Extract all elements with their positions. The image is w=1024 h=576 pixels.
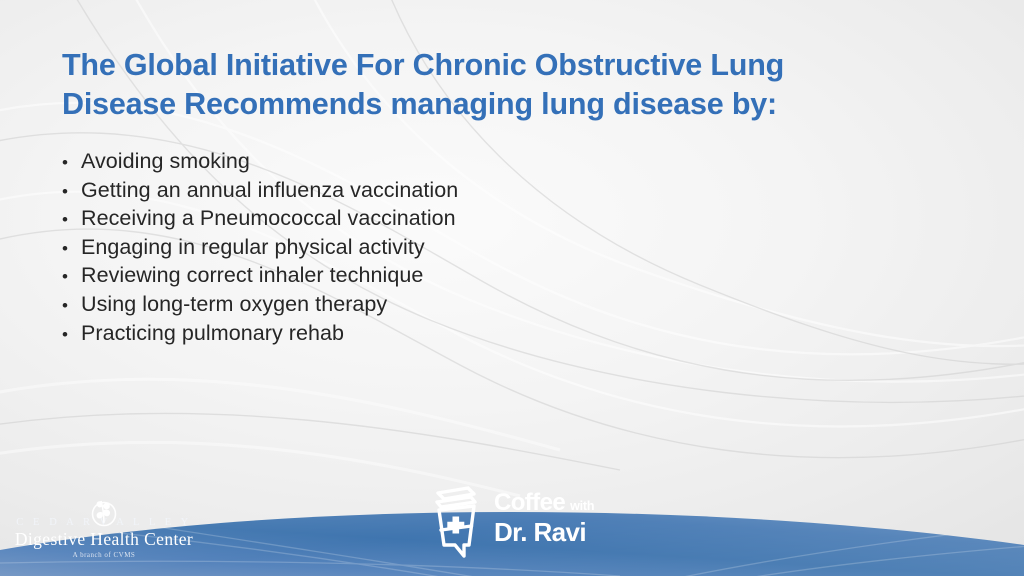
list-item-label: Avoiding smoking xyxy=(81,148,250,176)
with-word: with xyxy=(570,500,594,513)
list-item: • Engaging in regular physical activity xyxy=(62,234,458,263)
list-item-label: Reviewing correct inhaler technique xyxy=(81,262,423,290)
cedar-valley-wordmark-sub: A branch of CVMS xyxy=(14,551,194,559)
bullet-marker-icon: • xyxy=(62,292,81,320)
list-item: • Avoiding smoking xyxy=(62,148,458,177)
coffee-cup-medical-cross-icon xyxy=(424,483,490,561)
list-item-label: Engaging in regular physical activity xyxy=(81,234,425,262)
list-item-label: Practicing pulmonary rehab xyxy=(81,320,344,348)
cedar-valley-wordmark-top: C E D A R V A L L E Y xyxy=(14,517,194,528)
list-item-label: Getting an annual influenza vaccination xyxy=(81,177,458,205)
list-item: • Using long-term oxygen therapy xyxy=(62,291,458,320)
slide-canvas: The Global Initiative For Chronic Obstru… xyxy=(0,0,1024,576)
list-item: • Reviewing correct inhaler technique xyxy=(62,262,458,291)
cedar-valley-logo: C E D A R V A L L E Y Digestive Health C… xyxy=(14,496,194,566)
bullet-marker-icon: • xyxy=(62,149,81,177)
list-item-label: Receiving a Pneumococcal vaccination xyxy=(81,205,456,233)
coffee-logo-wordmark: Coffee with Dr. Ravi xyxy=(494,491,594,546)
list-item: • Getting an annual influenza vaccinatio… xyxy=(62,177,458,206)
bullet-marker-icon: • xyxy=(62,263,81,291)
dr-ravi-word: Dr. Ravi xyxy=(494,519,594,546)
list-item-label: Using long-term oxygen therapy xyxy=(81,291,387,319)
list-item: • Receiving a Pneumococcal vaccination xyxy=(62,205,458,234)
list-item: • Practicing pulmonary rehab xyxy=(62,320,458,349)
coffee-logo-line-1: Coffee with xyxy=(494,491,594,515)
bullet-marker-icon: • xyxy=(62,206,81,234)
coffee-with-dr-ravi-logo: Coffee with Dr. Ravi xyxy=(424,483,624,563)
bullet-marker-icon: • xyxy=(62,178,81,206)
slide-title: The Global Initiative For Chronic Obstru… xyxy=(62,46,1002,124)
bullet-marker-icon: • xyxy=(62,235,81,263)
bullet-marker-icon: • xyxy=(62,321,81,349)
coffee-word: Coffee xyxy=(494,491,565,515)
cedar-valley-wordmark-main: Digestive Health Center xyxy=(14,529,194,550)
bullet-list: • Avoiding smoking • Getting an annual i… xyxy=(62,148,458,348)
